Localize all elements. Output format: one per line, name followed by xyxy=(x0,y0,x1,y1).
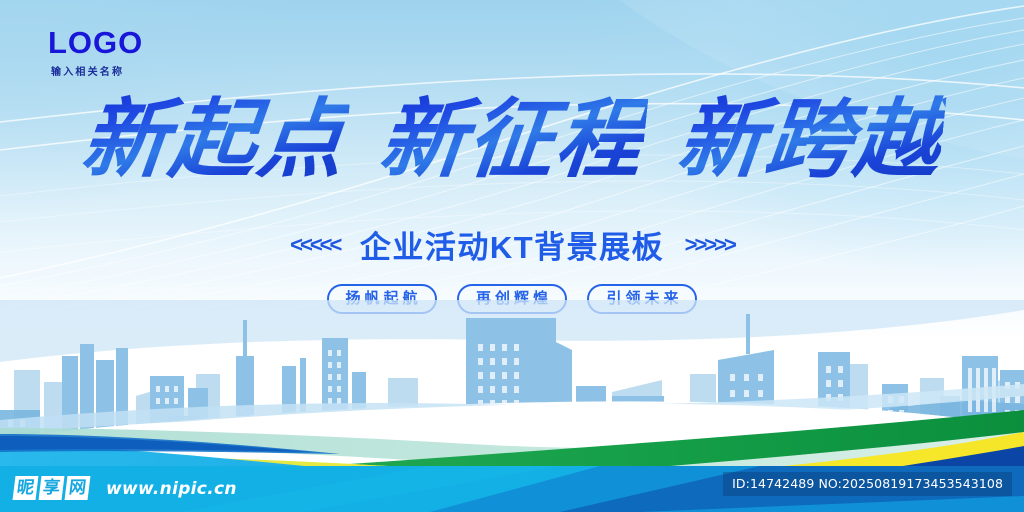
headline-phrase-3: 新跨越 xyxy=(673,92,947,188)
headline: 新起点新征程新跨越 xyxy=(0,92,1024,188)
headline-phrase-2: 新征程 xyxy=(375,92,649,188)
subtitle-row: <<<<< 企业活动KT背景展板 >>>>> xyxy=(0,222,1024,267)
nipic-url: www.nipic.cn xyxy=(106,479,237,499)
asset-id-label: ID:14742489 NO:20250819173453543108 xyxy=(723,472,1012,496)
watermark-bar: 昵 享 网 www.nipic.cn ID:14742489 NO:202508… xyxy=(0,466,1024,512)
brand-char-1: 昵 xyxy=(13,476,39,500)
poster-canvas: LOGO 输入相关名称 新起点新征程新跨越 <<<<< 企业活动KT背景展板 >… xyxy=(0,0,1024,512)
logo-subtitle: 输入相关名称 xyxy=(51,63,198,78)
logo-text: LOGO xyxy=(48,27,198,58)
subtitle-text: 企业活动KT背景展板 xyxy=(360,222,664,267)
nipic-brand-logo: 昵 享 网 xyxy=(14,476,89,500)
chevron-left-icon: <<<<< xyxy=(290,232,339,258)
logo-block: LOGO 输入相关名称 xyxy=(48,27,198,78)
brand-char-3: 网 xyxy=(65,476,91,500)
brand-char-2: 享 xyxy=(39,476,65,500)
headline-phrase-1: 新起点 xyxy=(77,92,351,188)
chevron-right-icon: >>>>> xyxy=(685,232,734,258)
